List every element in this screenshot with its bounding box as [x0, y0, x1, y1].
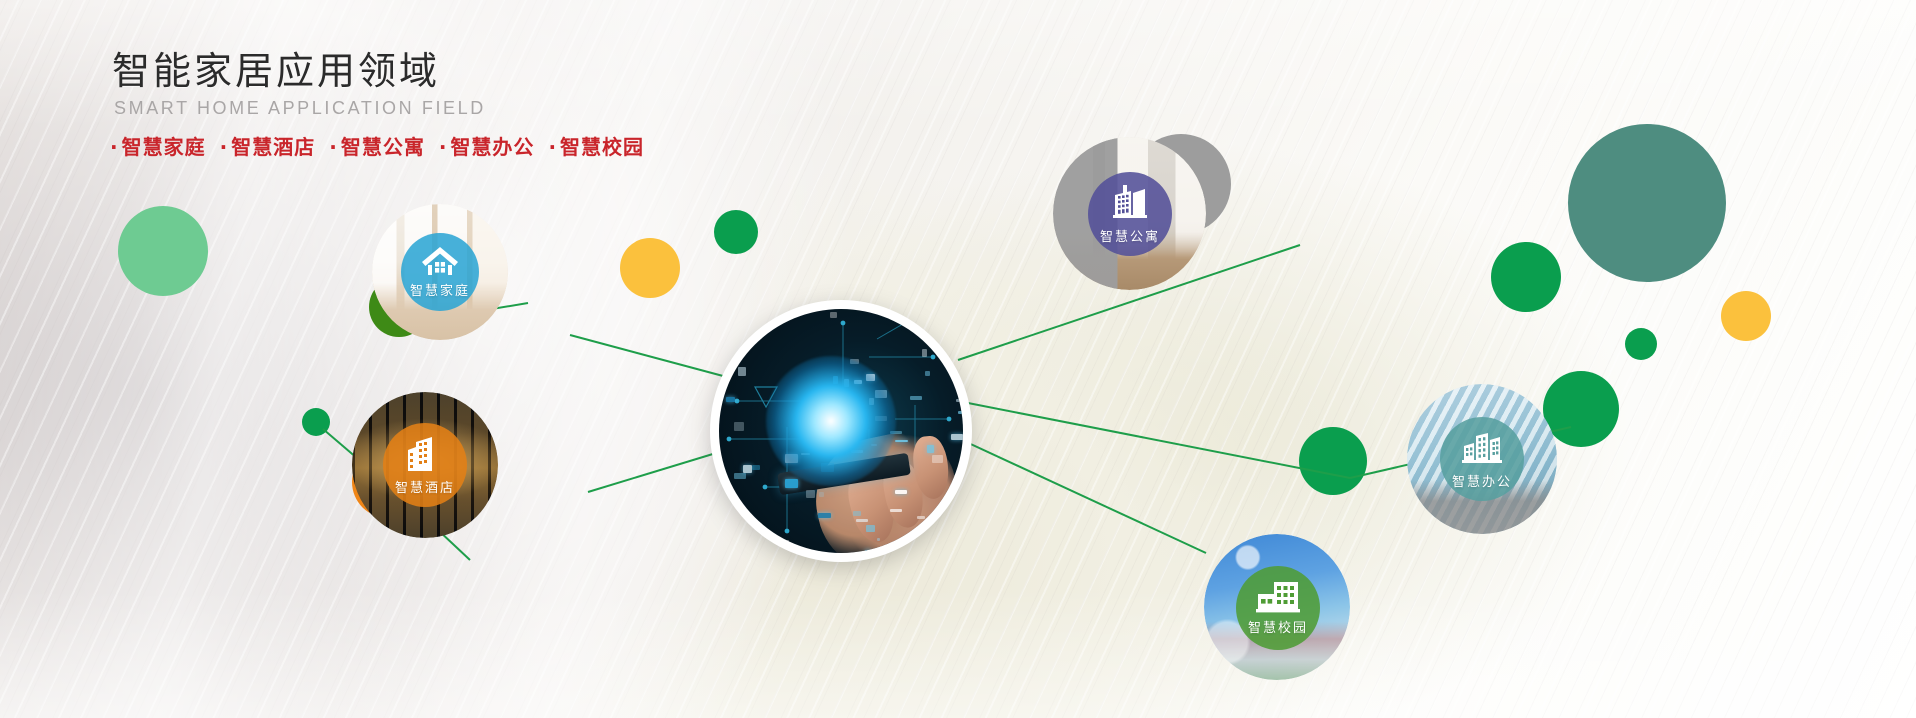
keyword-item: ·智慧家庭 [110, 135, 206, 159]
node-label-smart-campus: 智慧校园 [1248, 617, 1308, 636]
page-subtitle-en: SMART HOME APPLICATION FIELD [114, 98, 658, 119]
line-hub-to-family [570, 335, 738, 380]
central-hub-node[interactable] [710, 300, 972, 562]
hub-pixel [752, 465, 760, 470]
hub-pixel [830, 312, 837, 318]
hotel-building-icon [406, 434, 444, 474]
hub-pixel [895, 490, 907, 495]
hub-pixel [734, 422, 744, 431]
hub-pixel [932, 539, 940, 544]
hub-pixel [819, 492, 824, 497]
hub-pixel [932, 455, 943, 463]
hub-pixel [927, 445, 934, 453]
keyword-bullet-icon: · [110, 135, 119, 159]
campus-icon [1256, 580, 1300, 614]
hub-pixel [726, 397, 735, 402]
hub-pixel [743, 465, 752, 473]
hub-pixel [738, 367, 746, 376]
hub-pixel [895, 440, 908, 442]
hub-pixel [917, 516, 926, 519]
badge-smart-apartment[interactable]: 智慧公寓 [1088, 172, 1172, 256]
keyword-list: ·智慧家庭·智慧酒店·智慧公寓·智慧办公·智慧校园 [110, 131, 658, 160]
keyword-label: 智慧酒店 [231, 135, 315, 159]
line-hub-to-hotel [588, 450, 726, 492]
hub-pixel [958, 411, 963, 414]
keyword-item: ·智慧办公 [439, 135, 535, 159]
line-hub-to-office [968, 403, 1350, 478]
hub-pixel [734, 473, 746, 479]
hub-pixel [787, 550, 792, 553]
hub-pixel [956, 399, 963, 402]
badge-smart-campus[interactable]: 智慧校园 [1236, 566, 1320, 650]
page-title: 智能家居应用领域 [112, 48, 658, 96]
hub-glow [766, 356, 896, 486]
hub-pixel [856, 519, 868, 522]
keyword-item: ·智慧校园 [548, 135, 644, 159]
smart-home-banner: 智能家居应用领域 SMART HOME APPLICATION FIELD ·智… [0, 0, 1916, 718]
line-hub-to-campus [962, 440, 1206, 553]
keyword-bullet-icon: · [548, 135, 557, 159]
keyword-label: 智慧公寓 [341, 135, 425, 159]
hub-pixel [729, 360, 735, 365]
keyword-label: 智慧校园 [560, 135, 644, 159]
keyword-item: ·智慧公寓 [329, 135, 425, 159]
hub-pixel [922, 349, 926, 357]
keyword-bullet-icon: · [220, 135, 229, 159]
hub-pixel [777, 540, 789, 546]
badge-smart-office[interactable]: 智慧办公 [1440, 417, 1524, 501]
hub-pixel [802, 309, 813, 312]
hub-pixel [732, 351, 736, 355]
hub-pixel [765, 542, 774, 549]
node-label-smart-office: 智慧办公 [1452, 471, 1512, 490]
hub-pixel [925, 371, 929, 376]
hub-pixel [853, 511, 861, 516]
hub-pixel [890, 509, 902, 511]
hub-pixel [866, 525, 875, 531]
badge-smart-hotel[interactable]: 智慧酒店 [383, 423, 467, 507]
node-label-smart-hotel: 智慧酒店 [395, 477, 455, 496]
office-tower-icon [1460, 428, 1504, 468]
keyword-bullet-icon: · [329, 135, 338, 159]
keyword-label: 智慧办公 [450, 135, 534, 159]
keyword-item: ·智慧酒店 [220, 135, 316, 159]
hub-pixel [910, 396, 923, 400]
banner-heading: 智能家居应用领域 SMART HOME APPLICATION FIELD ·智… [112, 48, 658, 160]
apartment-icon [1109, 183, 1151, 223]
hub-pixel [895, 548, 901, 553]
hub-pixel [951, 434, 963, 440]
hub-pixel [818, 513, 831, 518]
house-icon [420, 245, 460, 277]
badge-smart-family[interactable]: 智慧家庭 [401, 233, 479, 311]
hub-image [719, 309, 963, 553]
hub-pixel [806, 490, 815, 498]
node-label-smart-family: 智慧家庭 [410, 280, 470, 299]
hub-pixel [785, 479, 798, 488]
keyword-bullet-icon: · [439, 135, 448, 159]
node-label-smart-apartment: 智慧公寓 [1100, 226, 1160, 245]
keyword-label: 智慧家庭 [122, 135, 206, 159]
hub-pixel [865, 550, 872, 553]
